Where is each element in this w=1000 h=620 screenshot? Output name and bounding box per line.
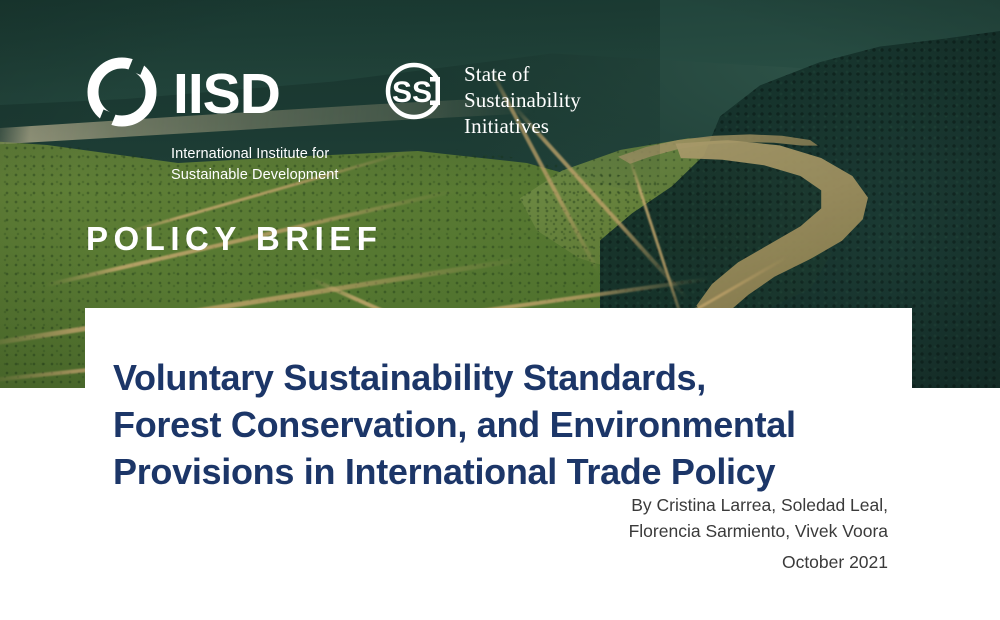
iisd-tagline: International Institute for Sustainable … [171,144,375,186]
ssi-name: State of Sustainability Initiatives [464,55,581,139]
iisd-ring-icon [85,55,159,134]
ssi-circle-icon: SS [380,55,452,132]
cover-page: IISD International Institute for Sustain… [0,0,1000,620]
byline: By Cristina Larrea, Soledad Leal, Floren… [468,492,888,545]
document-type-label: POLICY BRIEF [86,222,382,255]
publication-date: October 2021 [468,549,888,575]
ssi-mark-letters: SS [392,76,432,109]
logo-bar: IISD International Institute for Sustain… [85,55,581,186]
ssi-logo: SS State of Sustainability Initiatives [380,55,581,139]
page-title: Voluntary Sustainability Standards, Fore… [113,354,913,495]
iisd-wordmark: IISD [173,66,280,123]
iisd-logo: IISD International Institute for Sustain… [85,55,375,186]
